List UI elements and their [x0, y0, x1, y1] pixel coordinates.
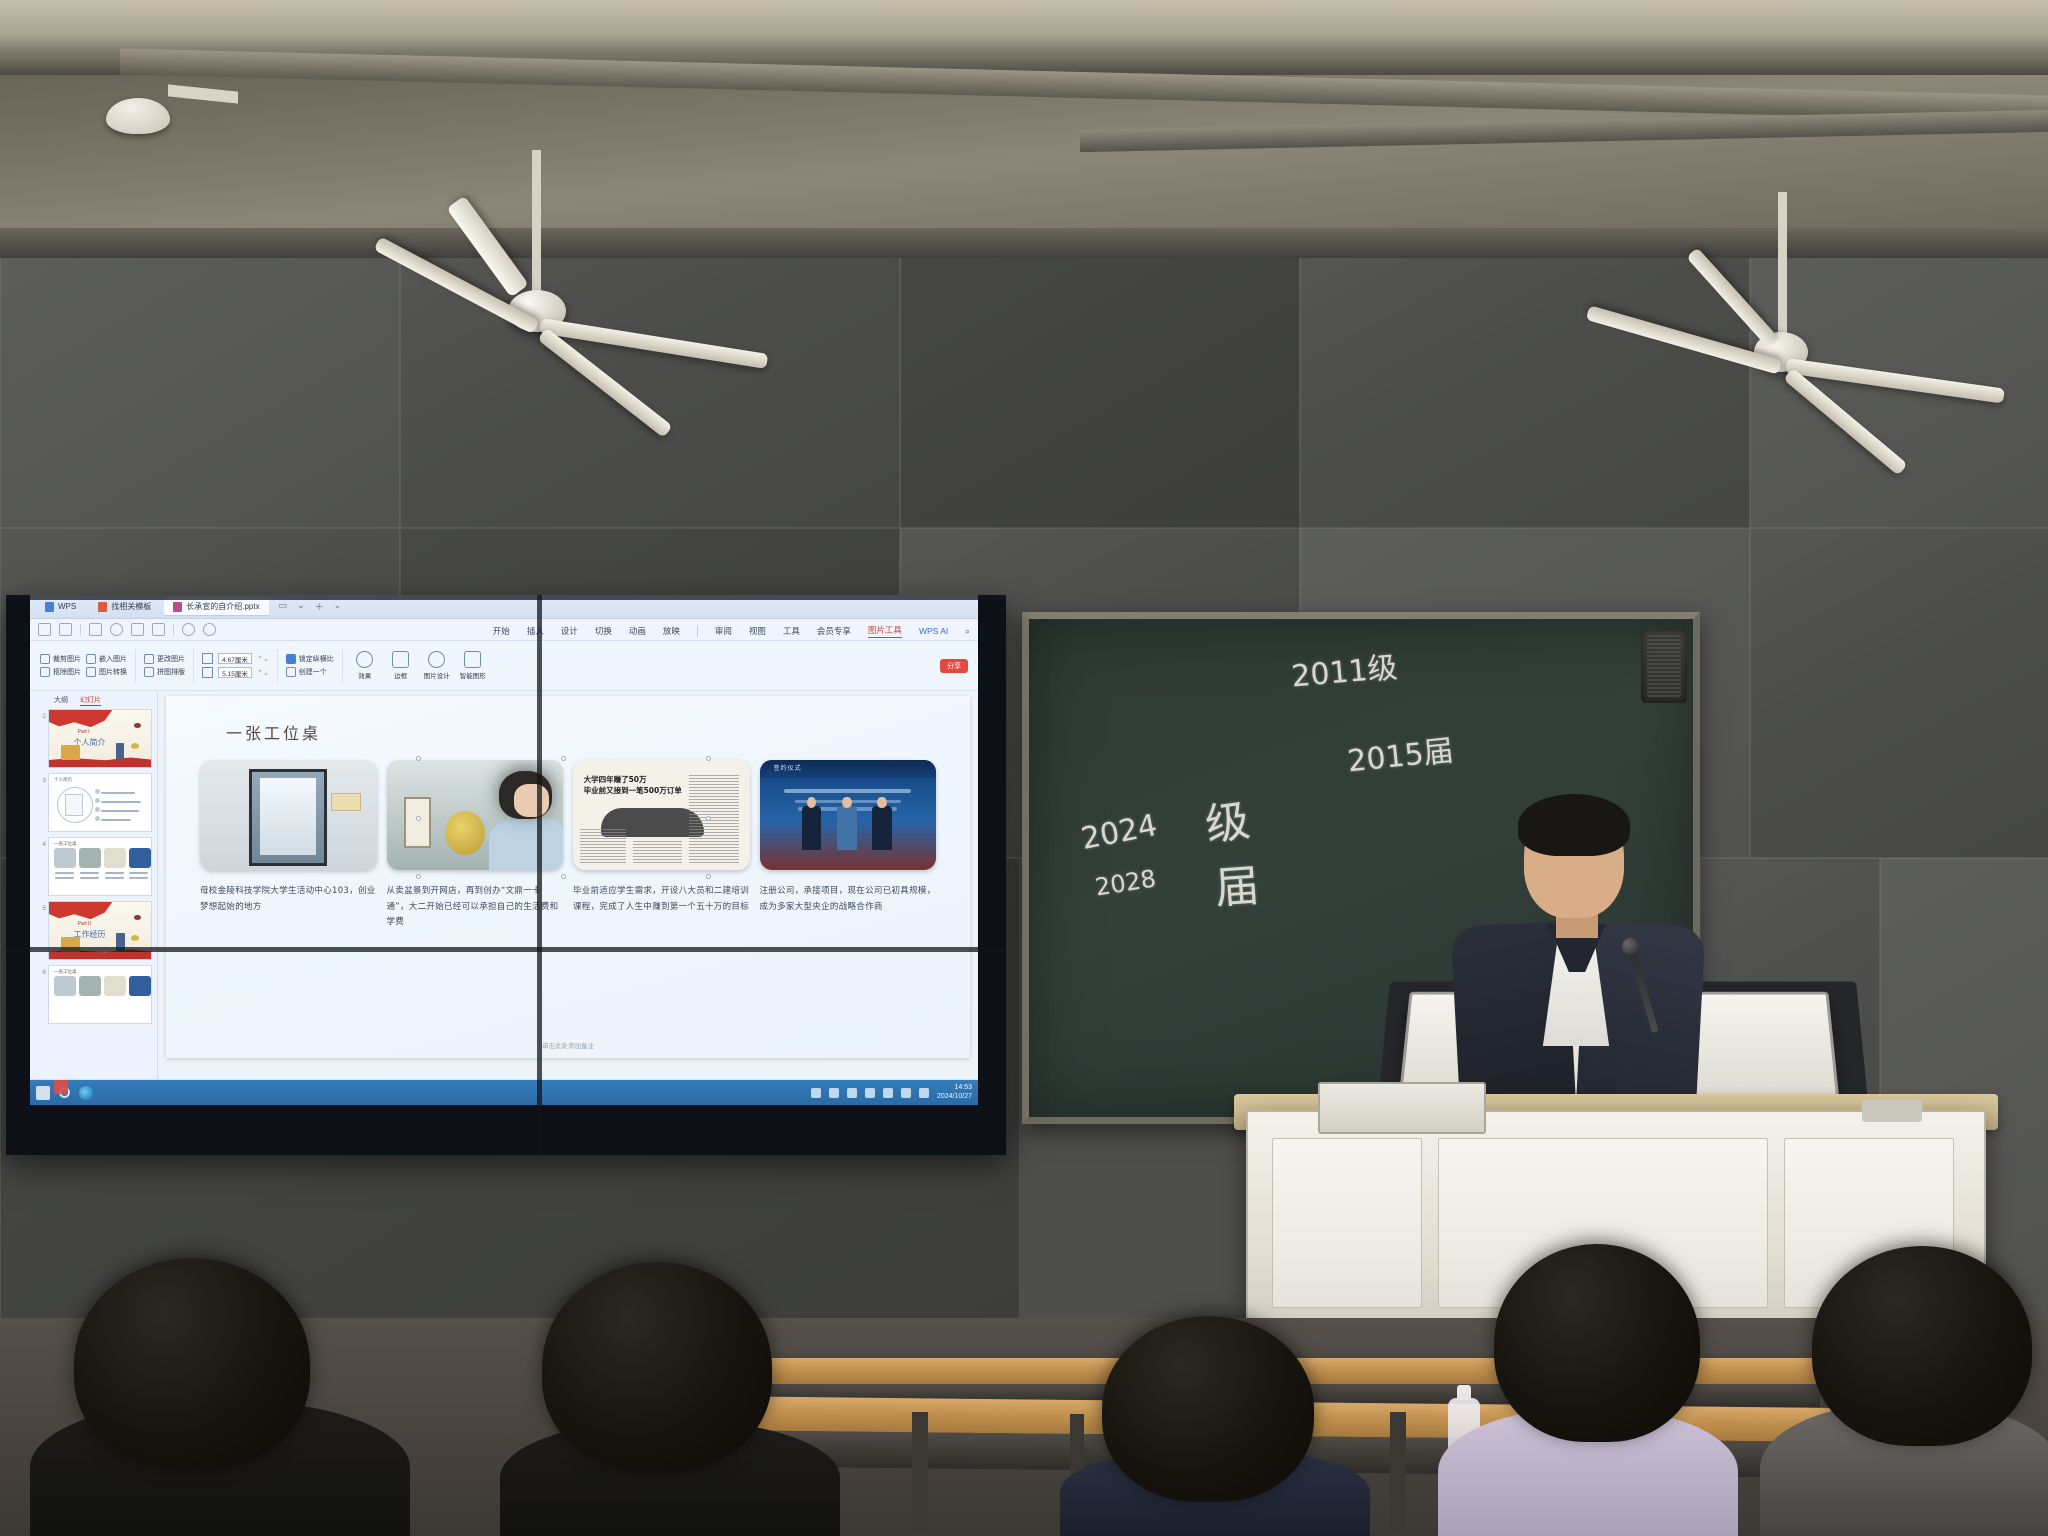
tab-tools[interactable]: 工具 — [783, 625, 800, 637]
border-button[interactable]: 边框 — [387, 651, 415, 680]
ceiling-fan-left — [400, 150, 1040, 410]
audience-head — [542, 1262, 772, 1472]
slide-editing-stage[interactable]: 一张工位桌 — [158, 691, 978, 1079]
selection-handle[interactable] — [561, 874, 566, 879]
smart-graphic-icon — [464, 651, 481, 668]
chalk-note: 2011级 — [1289, 642, 1399, 695]
layout-icon — [144, 667, 154, 677]
ribbon-tab-strip[interactable]: 开始 插入 设计 切换 动画 放映 审阅 视图 工具 会员专享 图片工具 WPS… — [493, 621, 970, 641]
lectern-equipment-tray — [1318, 1082, 1486, 1134]
ceremony-banner-text: 签约仪式 — [774, 763, 802, 772]
network-icon[interactable] — [847, 1088, 857, 1098]
effects-icon — [356, 651, 373, 668]
thumbnail-title: 个人简历 — [54, 777, 72, 783]
thumbnail-item[interactable]: 3 个人简历 — [32, 773, 155, 832]
new-tab-icon[interactable]: ▭ — [279, 600, 288, 613]
chevron-down-icon[interactable]: ⌄ — [334, 600, 342, 613]
chalk-note-large: 级 — [1201, 784, 1253, 854]
tab-review[interactable]: 审阅 — [715, 625, 732, 637]
ribbon-group-lock: 锁定纵横比 创建一个 — [286, 654, 334, 677]
start-icon[interactable] — [36, 1086, 50, 1100]
save-icon[interactable] — [131, 623, 144, 636]
tab-view[interactable]: 视图 — [749, 625, 766, 637]
convert-image-button[interactable]: 图片转换 — [86, 667, 127, 677]
ime-icon[interactable] — [901, 1088, 911, 1098]
picture-design-button[interactable]: 图片设计 — [423, 651, 451, 680]
caption-1[interactable]: 母校金陵科技学院大学生活动中心103，创业梦想起始的地方 — [200, 884, 377, 931]
ceiling-beam — [1080, 110, 2048, 152]
slide-title[interactable]: 一张工位桌 — [226, 720, 321, 744]
chalk-note: 2015届 — [1345, 726, 1455, 781]
ceiling-sensor-icon — [106, 98, 170, 134]
convert-icon — [86, 667, 96, 677]
volume-icon[interactable] — [865, 1088, 875, 1098]
lectern-panel — [1272, 1138, 1422, 1308]
audience-head — [1494, 1244, 1700, 1442]
video-wall-bezel — [6, 947, 1006, 952]
change-image-button[interactable]: 更改图片 — [144, 654, 185, 664]
redo-icon[interactable] — [203, 623, 216, 636]
thumbnail-title: 一张工位桌 — [54, 841, 77, 847]
wps-icon[interactable] — [54, 1080, 68, 1094]
tab-slides[interactable]: 幻灯片 — [80, 695, 101, 706]
current-slide[interactable]: 一张工位桌 — [166, 696, 970, 1058]
lectern-control-pad — [1862, 1100, 1922, 1122]
lock-aspect-checkbox[interactable]: 锁定纵横比 — [286, 654, 334, 664]
crop-icon — [40, 654, 50, 664]
tab-member[interactable]: 会员专享 — [817, 625, 851, 637]
sensor-mount — [168, 84, 238, 103]
thumbnail-number: 4 — [32, 837, 46, 851]
tab-list-icon[interactable]: ⌄ — [297, 600, 305, 613]
add-tab-icon[interactable]: ＋ — [315, 600, 324, 613]
ppt-icon — [173, 602, 182, 612]
tab-picture-tools[interactable]: 图片工具 — [868, 624, 902, 638]
width-icon — [202, 667, 213, 678]
thumbnail-slide-3[interactable]: 个人简历 — [48, 773, 152, 832]
thumbnail-number: 2 — [32, 709, 46, 723]
image-width-field[interactable]: 5.15厘米 — [218, 667, 252, 678]
lecture-hall-scene: 2011级 2015届 2024 2028 级 届 WPS 找相关模板 — [0, 0, 2048, 1536]
presenter-person — [1452, 800, 1712, 1130]
create-one-button[interactable]: 创建一个 — [286, 667, 327, 677]
tab-controls[interactable]: ▭ ⌄ ＋ ⌄ — [279, 600, 342, 613]
battery-icon[interactable] — [919, 1088, 929, 1098]
selection-handle[interactable] — [706, 756, 711, 761]
thumbnail-slide-6[interactable]: 一张工位桌 — [48, 965, 152, 1024]
chalk-note: 2028 — [1093, 864, 1158, 901]
audience-head — [1102, 1316, 1314, 1502]
wall-speaker-icon — [1641, 629, 1687, 703]
ceiling-fan-right — [1640, 192, 2048, 442]
ribbon-group-change: 更改图片 拼图排版 — [144, 654, 185, 677]
image-height-field[interactable]: 4.67厘米 — [218, 653, 252, 664]
notes-placeholder[interactable]: 单击此处添加备注 — [542, 1040, 594, 1050]
display-icon[interactable] — [829, 1088, 839, 1098]
embed-image-button[interactable]: 嵌入图片 — [86, 654, 127, 664]
thumbnail-slide-4[interactable]: 一张工位桌 — [48, 837, 152, 896]
chevron-up-icon[interactable] — [811, 1088, 821, 1098]
print-icon[interactable] — [152, 623, 165, 636]
stepper-icon[interactable]: ⌃⌄ — [257, 655, 269, 663]
newspaper-photo[interactable]: 大学四年赚了50万 毕业前又接到一笔500万订单 — [573, 760, 750, 870]
system-tray[interactable]: 14:53 2024/10/27 — [811, 1084, 972, 1102]
thumbnail-item[interactable]: 2 Part I 个人简介 — [32, 709, 155, 768]
tab-design[interactable]: 设计 — [561, 625, 578, 637]
audience-head — [74, 1258, 310, 1470]
remove-background-icon — [40, 667, 50, 677]
video-wall-bezel — [6, 595, 1006, 600]
clock-time: 14:53 — [937, 1084, 972, 1093]
tab-outline[interactable]: 大纲 — [54, 695, 68, 706]
menu-icon[interactable] — [38, 623, 51, 636]
slide-caption-row: 母校金陵科技学院大学生活动中心103，创业梦想起始的地方 从卖盆景到开网店，再到… — [200, 884, 936, 931]
template-icon — [98, 602, 107, 612]
open-file-icon[interactable] — [110, 623, 123, 636]
undo-icon[interactable] — [182, 623, 195, 636]
search-icon[interactable]: ⌕ — [965, 626, 970, 637]
tab-transition[interactable]: 切换 — [595, 625, 612, 637]
chalk-note: 2024 — [1078, 808, 1160, 857]
thumbnail-part-label: Part I — [78, 729, 90, 735]
workspace: 大纲 幻灯片 2 Part I 个人简介 — [30, 691, 978, 1079]
share-button[interactable]: 分享 — [940, 659, 968, 673]
video-wall-display[interactable]: WPS 找相关模板 长承宣的自介绍.pptx ▭ ⌄ ＋ ⌄ — [6, 595, 1006, 1155]
border-icon — [392, 651, 409, 668]
stepper-icon[interactable]: ⌃⌄ — [257, 669, 269, 677]
video-wall-bezel — [537, 595, 542, 1155]
doc-tab-label: 长承宣的自介绍.pptx — [186, 601, 259, 612]
edge-icon[interactable] — [79, 1086, 93, 1100]
windows-taskbar[interactable]: 14:53 2024/10/27 — [30, 1080, 978, 1105]
thumbnail-number: 6 — [32, 965, 46, 979]
new-file-icon[interactable] — [89, 623, 102, 636]
tab-slideshow[interactable]: 放映 — [663, 625, 680, 637]
selection-handle[interactable] — [561, 756, 566, 761]
clock-date: 2024/10/27 — [937, 1093, 972, 1102]
thumbnail-slide-2[interactable]: Part I 个人简介 — [48, 709, 152, 768]
doc-tab-label: WPS — [58, 602, 76, 611]
embed-icon — [86, 654, 96, 664]
bench-leg — [912, 1412, 928, 1532]
picture-design-icon — [428, 651, 445, 668]
ribbon-group-size: 4.67厘米 ⌃⌄ 5.15厘米 ⌃⌄ — [202, 653, 269, 678]
thumbnail-item[interactable]: 4 一张工位桌 — [32, 837, 155, 896]
selection-handle[interactable] — [416, 756, 421, 761]
height-icon — [202, 653, 213, 664]
selection-handle[interactable] — [706, 816, 711, 821]
ribbon-group-picture: 裁剪图片 嵌入图片 抠除图片 — [40, 654, 127, 677]
ceiling-beam — [0, 0, 2048, 58]
wps-ai-button[interactable]: WPS AI — [919, 626, 948, 636]
thumbnail-number: 5 — [32, 901, 46, 915]
checkbox-checked-icon — [286, 654, 296, 664]
selection-handle[interactable] — [416, 816, 421, 821]
bench-leg — [1390, 1412, 1406, 1532]
doc-tab-label: 找相关模板 — [111, 601, 151, 612]
chalk-note-large: 届 — [1213, 850, 1261, 917]
audience-head — [1812, 1246, 2032, 1446]
thumbnail-item[interactable]: 6 一张工位桌 — [32, 965, 155, 1024]
image-layout-button[interactable]: 拼图排版 — [144, 667, 185, 677]
selection-handle[interactable] — [416, 874, 421, 879]
create-icon — [286, 667, 296, 677]
wps-office-window[interactable]: WPS 找相关模板 长承宣的自介绍.pptx ▭ ⌄ ＋ ⌄ — [30, 595, 978, 1105]
tab-animation[interactable]: 动画 — [629, 625, 646, 637]
wps-icon — [45, 602, 54, 612]
thumbnail-title: 一张工位桌 — [54, 969, 77, 975]
fan-blade — [1686, 247, 1777, 346]
caption-4[interactable]: 注册公司，承接项目，现在公司已初具规模，成为多家大型央企的战略合作商 — [760, 884, 937, 931]
tab-start[interactable]: 开始 — [493, 625, 510, 637]
caption-3[interactable]: 毕业前适应学生需求，开设八大员和二建培训课程，完成了人生中赚到第一个五十万的目标 — [573, 884, 750, 931]
ceremony-photo[interactable]: 签约仪式 — [760, 760, 937, 870]
corridor-photo[interactable] — [200, 760, 377, 870]
remove-bg-button[interactable]: 抠除图片 — [40, 667, 81, 677]
ribbon-toolbar[interactable]: 裁剪图片 嵌入图片 抠除图片 — [30, 641, 978, 691]
slide-photo-row: 大学四年赚了50万 毕业前又接到一笔500万订单 签约仪式 — [200, 760, 936, 870]
file-menu-icon[interactable] — [59, 623, 72, 636]
selection-handle[interactable] — [706, 874, 711, 879]
crop-image-button[interactable]: 裁剪图片 — [40, 654, 81, 664]
change-image-icon — [144, 654, 154, 664]
slide-thumbnail-panel[interactable]: 大纲 幻灯片 2 Part I 个人简介 — [30, 691, 158, 1079]
smart-graphic-button[interactable]: 智能图形 — [459, 651, 487, 680]
thumbnail-number: 3 — [32, 773, 46, 787]
effects-button[interactable]: 效果 — [351, 651, 379, 680]
thumbnail-part-label: Part II — [78, 921, 91, 927]
bluetooth-icon[interactable] — [883, 1088, 893, 1098]
panel-tabs[interactable]: 大纲 幻灯片 — [32, 694, 155, 709]
taskbar-clock[interactable]: 14:53 2024/10/27 — [937, 1084, 972, 1102]
